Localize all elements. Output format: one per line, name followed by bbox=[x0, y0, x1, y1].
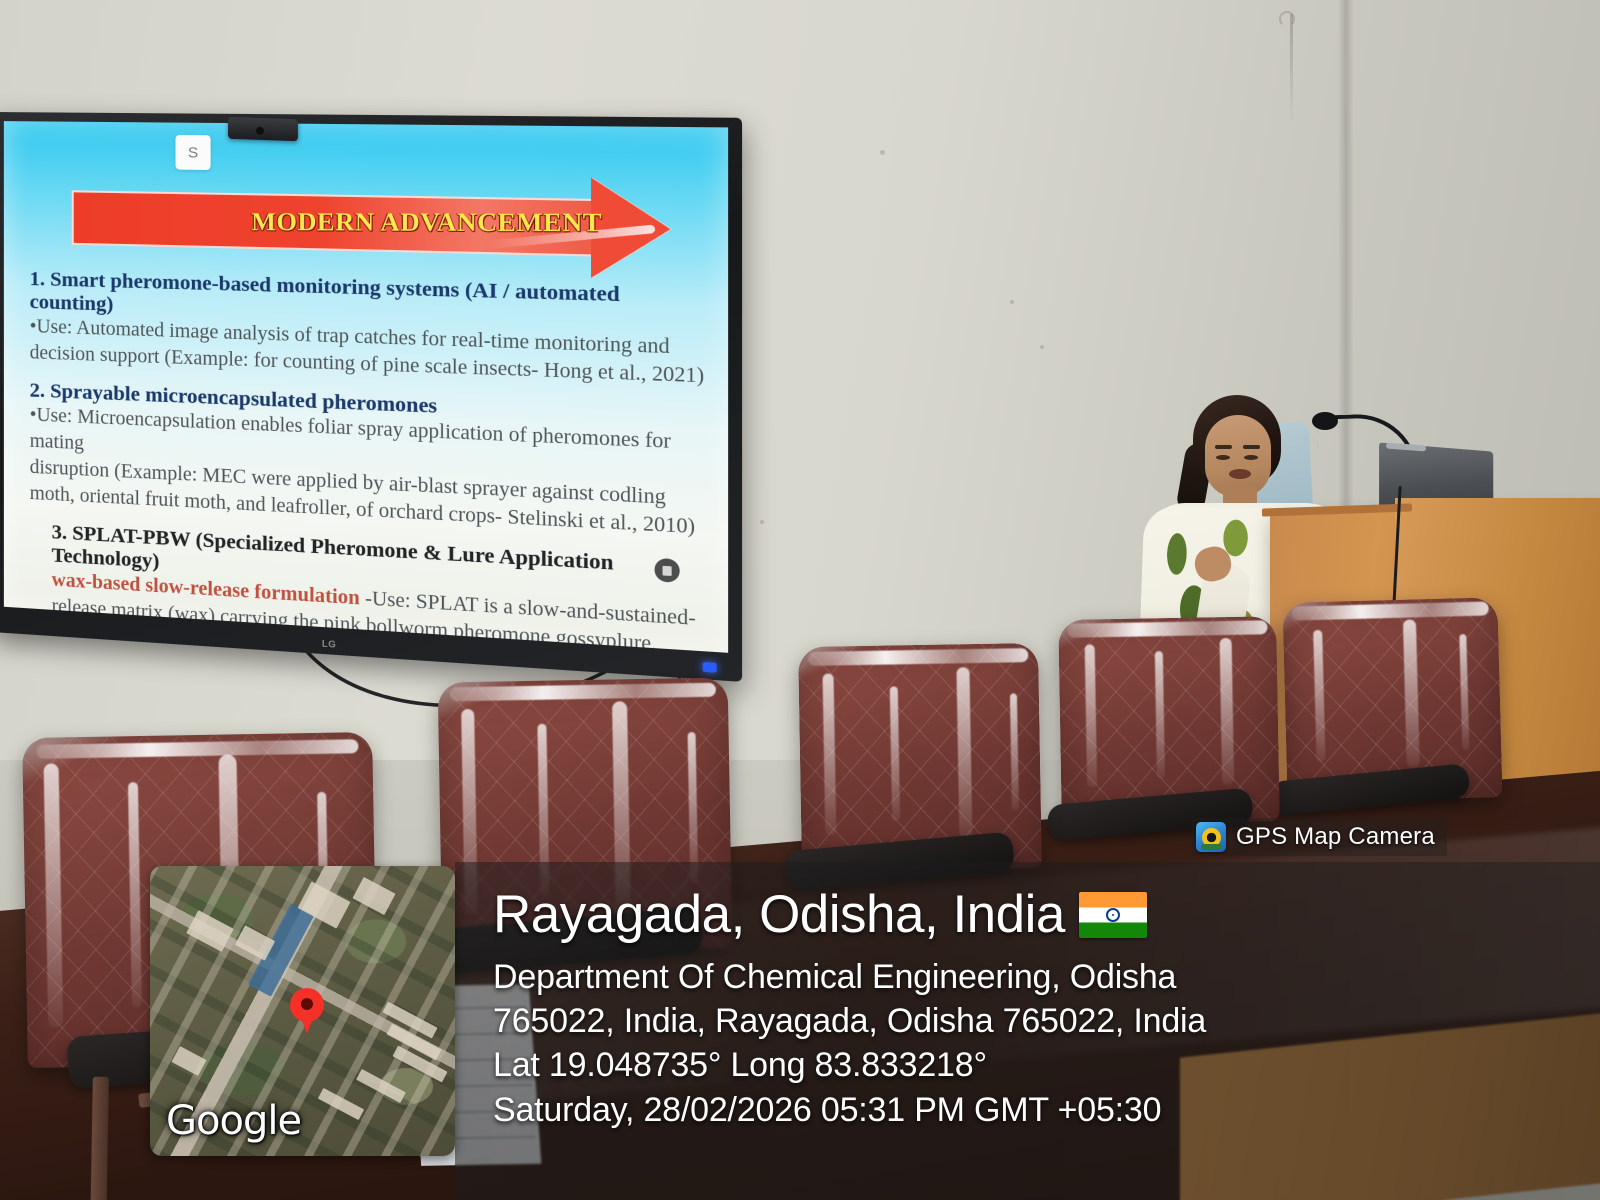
display-screen: S MODERN ADVANCEMENT 1. Smart pheromone-… bbox=[4, 121, 728, 653]
location-coordinates: Lat 19.048735° Long 83.833218° bbox=[493, 1043, 1493, 1087]
wall-display: S MODERN ADVANCEMENT 1. Smart pheromone-… bbox=[0, 112, 742, 682]
slide-badge-icon bbox=[655, 558, 680, 583]
presenter-face bbox=[1205, 415, 1271, 497]
india-flag-icon bbox=[1079, 892, 1147, 938]
presentation-slide: S MODERN ADVANCEMENT 1. Smart pheromone-… bbox=[4, 121, 728, 653]
map-pin-icon bbox=[290, 988, 324, 1022]
google-watermark: Google bbox=[166, 1098, 301, 1144]
display-brand-label: LG bbox=[322, 638, 336, 649]
presenter-mouth bbox=[1229, 469, 1251, 479]
webcam-icon bbox=[228, 117, 298, 141]
map-thumbnail[interactable]: Google bbox=[150, 866, 455, 1156]
slide-body: 1. Smart pheromone-based monitoring syst… bbox=[30, 268, 708, 653]
location-address-line-2: 765022, India, Rayagada, Odisha 765022, … bbox=[493, 999, 1493, 1043]
gps-map-camera-label: GPS Map Camera bbox=[1236, 823, 1435, 851]
display-bezel: S MODERN ADVANCEMENT 1. Smart pheromone-… bbox=[0, 112, 742, 682]
slide-title: MODERN ADVANCEMENT bbox=[251, 209, 602, 239]
audience-chair bbox=[1282, 597, 1502, 803]
audience-chair bbox=[1058, 616, 1280, 825]
location-timestamp: Saturday, 28/02/2026 05:31 PM GMT +05:30 bbox=[493, 1088, 1493, 1132]
power-led-icon bbox=[703, 662, 717, 673]
gps-map-camera-badge: GPS Map Camera bbox=[1192, 818, 1447, 856]
gps-camera-icon bbox=[1196, 822, 1226, 852]
location-place-row: Rayagada, Odisha, India bbox=[493, 888, 1493, 941]
photo-scene: S MODERN ADVANCEMENT 1. Smart pheromone-… bbox=[0, 0, 1600, 1200]
slide-title-banner: MODERN ADVANCEMENT bbox=[72, 180, 708, 270]
location-address-line-1: Department Of Chemical Engineering, Odis… bbox=[493, 955, 1493, 999]
wall-scuff bbox=[1290, 14, 1293, 124]
microphone-head bbox=[1312, 412, 1338, 430]
location-place: Rayagada, Odisha, India bbox=[493, 888, 1065, 941]
audience-chair bbox=[798, 643, 1042, 872]
slide-tab-marker: S bbox=[175, 135, 210, 170]
wall-scuff-ring bbox=[1279, 11, 1295, 27]
location-info: Rayagada, Odisha, India Department Of Ch… bbox=[493, 888, 1493, 1132]
